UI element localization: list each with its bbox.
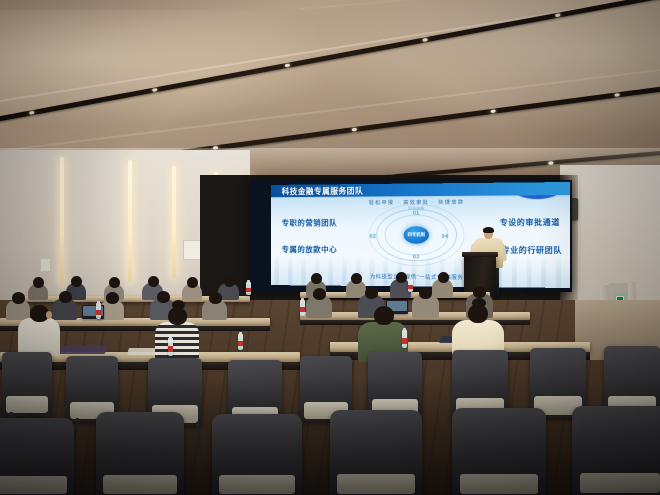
attendee-head [12, 292, 25, 304]
diagram-node-03: 03 [413, 254, 420, 260]
diagram-center-label: 四专机制 [408, 233, 425, 238]
attendee-head [365, 287, 378, 299]
water-bottle[interactable] [246, 282, 251, 295]
diagram-node-04: 04 [442, 234, 449, 240]
ceiling-glow-right [300, 0, 660, 140]
attendee-head [311, 273, 322, 284]
attendee-head [374, 306, 394, 325]
wall-led-strip [128, 160, 132, 282]
attendee-head [71, 276, 82, 287]
slide-label-top-right: 专设的审批通道 [500, 216, 560, 228]
attendee-head [148, 276, 159, 287]
wall-led-strip [60, 157, 64, 285]
water-bottle[interactable] [168, 338, 173, 356]
chair[interactable] [96, 412, 184, 495]
attendee-head [438, 272, 449, 283]
diagram-node-01: 01 [413, 211, 420, 217]
water-bottle[interactable] [402, 330, 407, 348]
attendee-hair-bun [472, 298, 486, 308]
speaker-hair [483, 227, 494, 233]
conference-hall-photo: 科技金融专属服务团队 轻松申报 · 高效审批 · 快捷放款 科技金融 01 02… [0, 0, 660, 495]
chair[interactable] [452, 408, 546, 495]
attendee-head [109, 277, 120, 288]
attendee-head [473, 286, 486, 298]
chair[interactable] [572, 406, 660, 495]
attendee-head [351, 273, 362, 284]
attendee-hair-bun [172, 300, 185, 310]
attendee-head [106, 292, 119, 304]
water-bottle[interactable] [238, 334, 243, 350]
attendee [155, 322, 199, 360]
attendee-head [33, 277, 44, 288]
printed-handout[interactable] [59, 346, 107, 354]
attendee-head [224, 276, 235, 287]
chair[interactable] [0, 418, 74, 495]
attendee-head [396, 272, 407, 283]
slide-label-bottom-right: 专业的行研团队 [502, 244, 562, 256]
attendee-head [187, 277, 198, 288]
slide-title: 科技金融专属服务团队 [282, 185, 364, 197]
attendee-face [46, 311, 52, 319]
attendee [18, 318, 60, 356]
diagram-center-circle: 四专机制 [404, 226, 429, 244]
diagram-node-02: 02 [370, 234, 376, 240]
water-bottle[interactable] [300, 300, 305, 316]
chair[interactable] [330, 410, 422, 495]
attendee-head [313, 288, 326, 300]
chair[interactable] [212, 414, 302, 495]
podium-top [462, 252, 498, 257]
chair[interactable] [2, 352, 52, 416]
water-bottle[interactable] [408, 279, 413, 292]
water-bottle[interactable] [96, 303, 101, 319]
slide-label-top-left: 专职的营销团队 [282, 217, 337, 229]
attendee-head [59, 291, 72, 303]
attendee-head [157, 291, 170, 303]
slide-label-bottom-left: 专属的放款中心 [282, 244, 337, 256]
wall-led-strip [172, 166, 176, 278]
wall-outlet [40, 258, 51, 272]
attendee-head [419, 287, 432, 299]
attendee-head [209, 292, 222, 304]
